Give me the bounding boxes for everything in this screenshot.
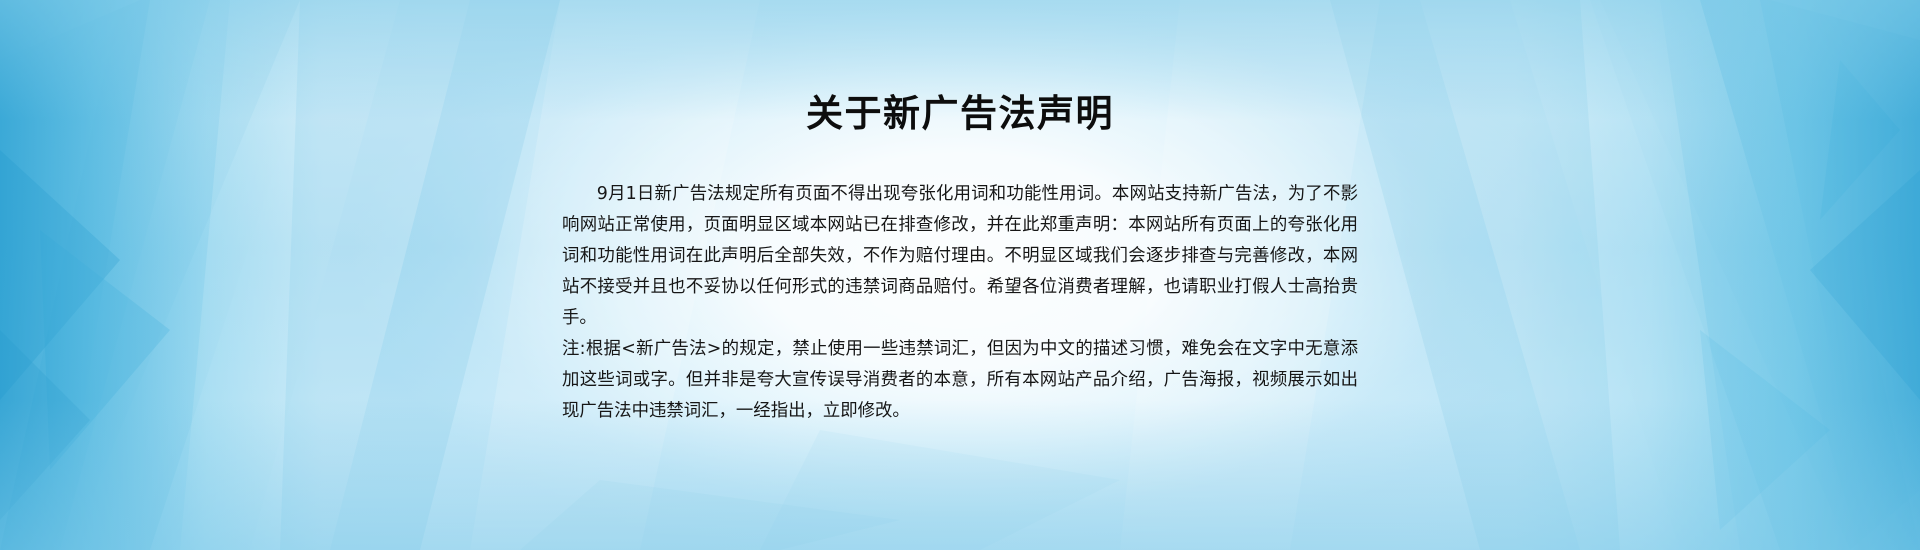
page-title: 关于新广告法声明 — [806, 92, 1114, 136]
advertising-law-statement-banner: 关于新广告法声明 9月1日新广告法规定所有页面不得出现夸张化用词和功能性用词。本… — [0, 0, 1920, 550]
statement-body: 9月1日新广告法规定所有页面不得出现夸张化用词和功能性用词。本网站支持新广告法，… — [562, 179, 1358, 427]
statement-paragraph-main: 9月1日新广告法规定所有页面不得出现夸张化用词和功能性用词。本网站支持新广告法，… — [562, 179, 1358, 334]
statement-paragraph-note: 注:根据<新广告法>的规定，禁止使用一些违禁词汇，但因为中文的描述习惯，难免会在… — [562, 334, 1358, 427]
statement-content: 关于新广告法声明 9月1日新广告法规定所有页面不得出现夸张化用词和功能性用词。本… — [0, 0, 1920, 550]
